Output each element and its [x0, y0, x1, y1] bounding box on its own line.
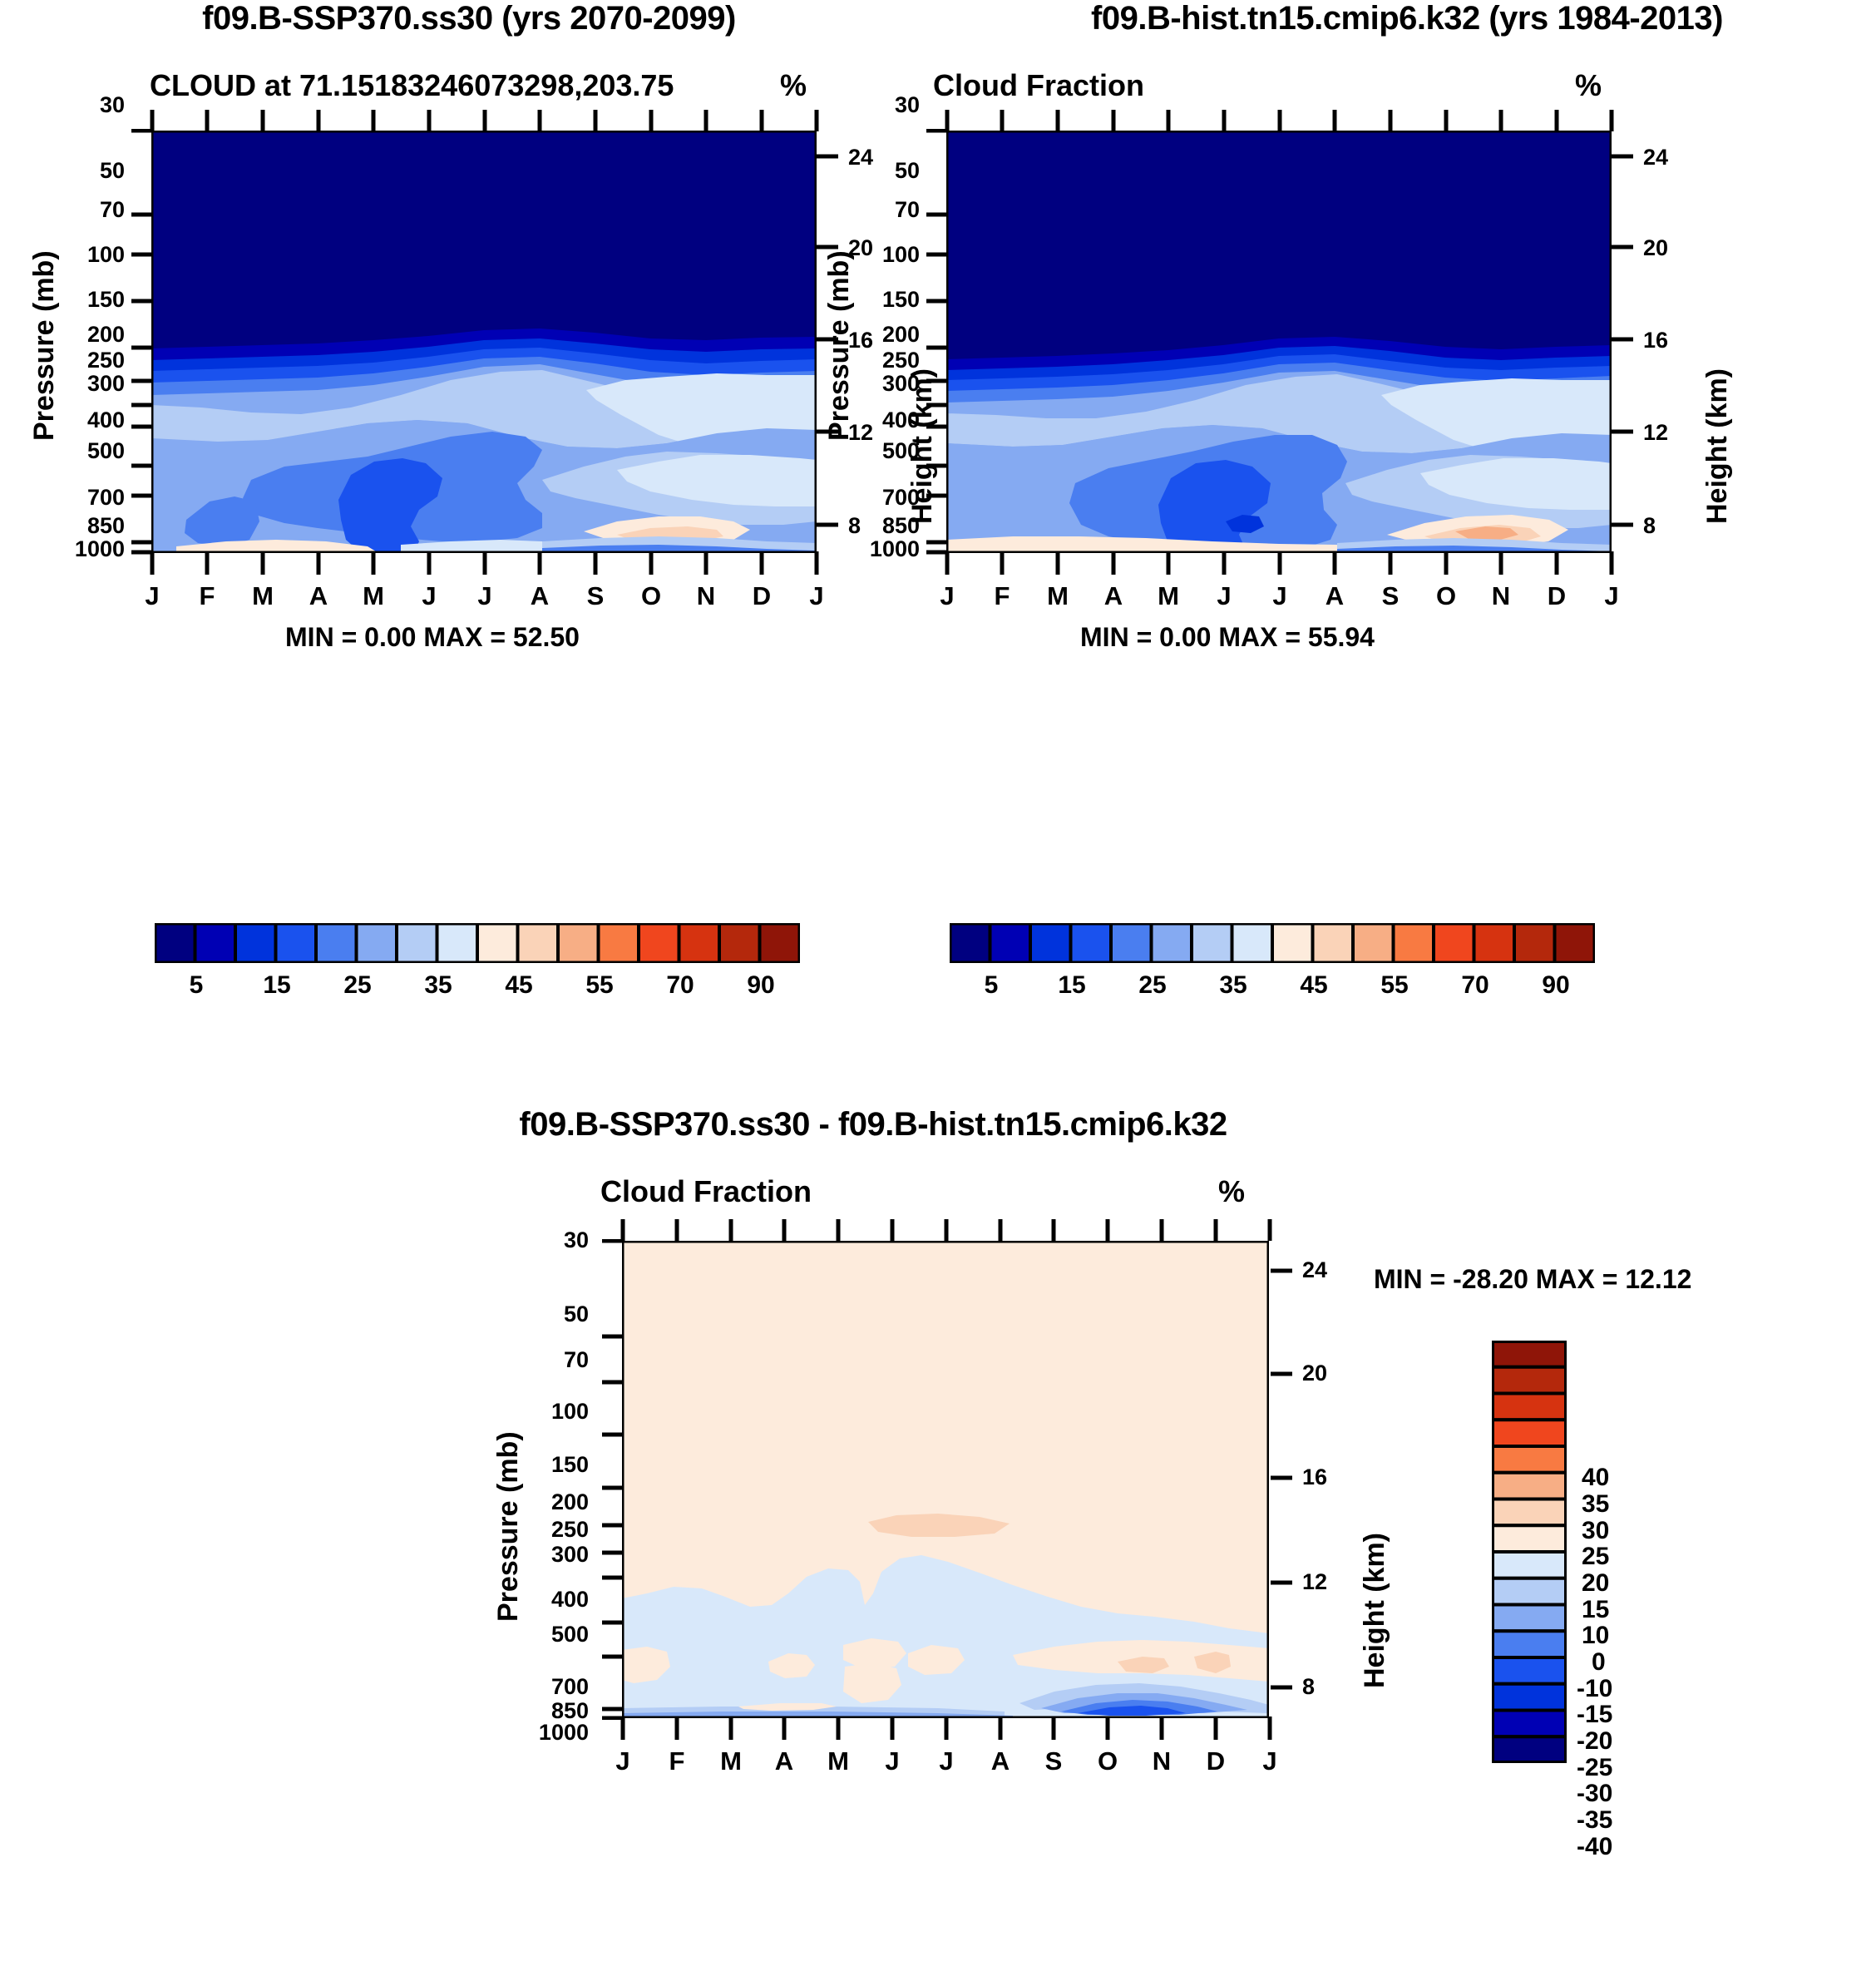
colorbar-segment	[1492, 1578, 1567, 1605]
colorbar-segment	[1474, 923, 1515, 963]
colorbar-tick-label: 10	[1582, 1622, 1609, 1650]
y-tick-label: 700	[497, 1674, 589, 1700]
colorbar-vertical-difference	[1492, 1341, 1567, 1763]
colorbar-segment	[950, 923, 990, 963]
colorbar-segment	[1492, 1525, 1567, 1552]
colorbar-segment	[437, 923, 478, 963]
colorbar-segment	[990, 923, 1031, 963]
x-tick-label: A	[294, 581, 343, 611]
x-tick-label: A	[759, 1746, 809, 1776]
y-axis-title-left: Pressure (mb)	[28, 250, 61, 441]
y-axis-left-ticks	[602, 1239, 622, 1720]
colorbar-tick-label: 70	[1442, 971, 1508, 1000]
x-tick-label: J	[127, 581, 177, 611]
x-tick-label: N	[1476, 581, 1526, 611]
colorbar-tick-label: -35	[1577, 1806, 1612, 1835]
x-tick-label: J	[922, 581, 972, 611]
contour-plot-top-left	[151, 131, 817, 553]
colorbar-tick-label: -30	[1577, 1780, 1612, 1808]
colorbar-segment	[1353, 923, 1394, 963]
y-axis-title-left: Pressure (mb)	[492, 1431, 525, 1622]
y-axis-title-right: Height (km)	[1701, 368, 1734, 524]
x-tick-label: J	[1199, 581, 1249, 611]
x-tick-label: J	[792, 581, 842, 611]
panel-bottom-diff: f09.B-SSP370.ss30 - f09.B-hist.tn15.cmip…	[0, 1106, 1876, 1961]
colorbar-segment	[195, 923, 236, 963]
y-axis-left-ticks	[926, 129, 946, 555]
colorbar-tick-label: 35	[405, 971, 471, 1000]
y-tick-label: 1000	[812, 536, 920, 562]
y-tick-label-height: 24	[1643, 145, 1668, 170]
x-tick-label: M	[706, 1746, 756, 1776]
x-tick-label: M	[1033, 581, 1083, 611]
y-tick-label: 50	[828, 158, 920, 184]
x-axis-bottom-ticks	[150, 551, 820, 575]
colorbar-segment	[1492, 1473, 1567, 1499]
x-tick-label: M	[348, 581, 398, 611]
y-tick-label-height: 24	[1302, 1257, 1327, 1283]
colorbar-segment	[276, 923, 317, 963]
colorbar-tick-label: 35	[1582, 1490, 1609, 1519]
colorbar-segment	[1232, 923, 1273, 963]
x-tick-label: D	[1191, 1746, 1241, 1776]
y-tick-label-height: 8	[1302, 1674, 1315, 1700]
panel-subtitle: Cloud Fraction	[600, 1174, 812, 1209]
y-tick-label-height: 16	[1302, 1465, 1327, 1490]
panel-top-left: f09.B-SSP370.ss30 (yrs 2070-2099) CLOUD …	[0, 0, 938, 1040]
panel-unit-label: %	[1218, 1174, 1245, 1209]
colorbar-segment	[679, 923, 720, 963]
y-axis-left-ticks	[131, 129, 151, 555]
colorbar-tick-label: 40	[1582, 1464, 1609, 1492]
colorbar-segment	[1111, 923, 1152, 963]
colorbar-segment	[1071, 923, 1112, 963]
y-tick-label-height: 20	[1643, 235, 1668, 261]
colorbar-segment	[1394, 923, 1434, 963]
x-axis-top-ticks	[150, 110, 820, 131]
colorbar-segment	[1434, 923, 1474, 963]
x-tick-label: J	[404, 581, 454, 611]
x-tick-label: J	[598, 1746, 648, 1776]
y-tick-label: 500	[497, 1622, 589, 1647]
colorbar-tick-label: 25	[1119, 971, 1186, 1000]
minmax-text: MIN = 0.00 MAX = 52.50	[0, 622, 865, 653]
colorbar-tick-label: 25	[1582, 1543, 1609, 1571]
y-tick-label: 850	[828, 513, 920, 539]
y-axis-title-left: Pressure (mb)	[823, 250, 856, 441]
colorbar-tick-label: 55	[566, 971, 633, 1000]
y-axis-right-ticks	[1271, 1239, 1292, 1720]
colorbar-segment	[1492, 1499, 1567, 1526]
x-tick-label: F	[977, 581, 1027, 611]
colorbar-segment	[1192, 923, 1232, 963]
y-axis-right-ticks	[1612, 129, 1633, 555]
x-tick-label: J	[1255, 581, 1305, 611]
colorbar-segment	[558, 923, 599, 963]
y-tick-label: 100	[497, 1399, 589, 1425]
colorbar-segment	[599, 923, 639, 963]
y-tick-label: 1000	[481, 1720, 589, 1746]
x-axis-bottom-ticks	[620, 1716, 1272, 1740]
colorbar-tick-label: 0	[1592, 1648, 1606, 1677]
x-tick-label: S	[1365, 581, 1415, 611]
colorbar-segment	[1313, 923, 1354, 963]
y-tick-label-height: 12	[1302, 1569, 1327, 1595]
panel-title: f09.B-SSP370.ss30 - f09.B-hist.tn15.cmip…	[0, 1106, 1746, 1144]
y-tick-label: 70	[497, 1347, 589, 1373]
x-tick-label: A	[975, 1746, 1025, 1776]
colorbar-tick-label: 45	[486, 971, 552, 1000]
colorbar-segment	[1492, 1605, 1567, 1632]
x-axis-top-ticks	[945, 110, 1615, 131]
y-axis-title-right: Height (km)	[1359, 1533, 1391, 1688]
colorbar-segment	[1555, 923, 1596, 963]
colorbar-tick-label: 90	[728, 971, 794, 1000]
colorbar-tick-label: -20	[1577, 1727, 1612, 1756]
y-tick-label: 500	[828, 438, 920, 464]
colorbar-segment	[1030, 923, 1071, 963]
colorbar-segment	[155, 923, 195, 963]
panel-top-right: f09.B-hist.tn15.cmip6.k32 (yrs 1984-2013…	[938, 0, 1876, 1040]
colorbar-tick-label: 20	[1582, 1569, 1609, 1598]
colorbar-tick-label: 45	[1281, 971, 1347, 1000]
colorbar-segment	[518, 923, 559, 963]
colorbar-segment	[1492, 1657, 1567, 1684]
x-tick-label: J	[867, 1746, 917, 1776]
y-tick-label-height: 8	[1643, 513, 1656, 539]
y-tick-label: 70	[33, 197, 125, 223]
panel-subtitle: Cloud Fraction	[933, 68, 1144, 103]
colorbar-tick-label: 25	[324, 971, 391, 1000]
colorbar-horizontal-top-left	[155, 923, 800, 963]
x-tick-label: A	[1310, 581, 1360, 611]
colorbar-segment	[1492, 1711, 1567, 1737]
colorbar-tick-label: -25	[1577, 1754, 1612, 1782]
colorbar-tick-label: -15	[1577, 1701, 1612, 1729]
x-tick-label: J	[1245, 1746, 1295, 1776]
panel-unit-label: %	[1575, 68, 1602, 103]
colorbar-tick-label: 15	[244, 971, 310, 1000]
x-tick-label: A	[1089, 581, 1138, 611]
colorbar-segment	[397, 923, 437, 963]
colorbar-tick-label: 70	[647, 971, 713, 1000]
colorbar-segment	[1492, 1341, 1567, 1367]
y-tick-label: 700	[33, 485, 125, 511]
colorbar-tick-label: 90	[1523, 971, 1589, 1000]
colorbar-segment	[639, 923, 679, 963]
colorbar-tick-label: 15	[1582, 1596, 1609, 1624]
colorbar-segment	[1492, 1394, 1567, 1420]
colorbar-segment	[1492, 1446, 1567, 1473]
x-tick-label: O	[1421, 581, 1471, 611]
colorbar-segment	[1152, 923, 1192, 963]
x-tick-label: M	[813, 1746, 863, 1776]
panel-unit-label: %	[780, 68, 807, 103]
y-tick-label-height: 20	[1302, 1361, 1327, 1386]
colorbar-segment	[1492, 1631, 1567, 1657]
colorbar-segment	[357, 923, 397, 963]
y-tick-label: 30	[33, 92, 125, 118]
colorbar-tick-label: 30	[1582, 1517, 1609, 1545]
colorbar-horizontal-top-right	[950, 923, 1595, 963]
y-tick-label: 50	[497, 1302, 589, 1327]
colorbar-tick-label: -10	[1577, 1675, 1612, 1703]
x-tick-label: J	[921, 1746, 971, 1776]
panel-title: f09.B-SSP370.ss30 (yrs 2070-2099)	[0, 0, 938, 37]
x-tick-label: J	[460, 581, 510, 611]
minmax-text: MIN = 0.00 MAX = 55.94	[795, 622, 1660, 653]
colorbar-segment	[1514, 923, 1555, 963]
colorbar-segment	[1492, 1367, 1567, 1394]
colorbar-segment	[1492, 1736, 1567, 1763]
panel-subtitle: CLOUD at 71.15183246073298,203.75	[150, 68, 674, 103]
colorbar-segment	[1272, 923, 1313, 963]
x-tick-label: N	[681, 581, 731, 611]
x-tick-label: D	[737, 581, 787, 611]
colorbar-segment	[760, 923, 801, 963]
colorbar-tick-label: 5	[958, 971, 1024, 1000]
x-tick-label: F	[182, 581, 232, 611]
x-axis-bottom-ticks	[945, 551, 1615, 575]
y-tick-label: 70	[828, 197, 920, 223]
colorbar-tick-label: 35	[1200, 971, 1266, 1000]
colorbar-tick-label: 15	[1039, 971, 1105, 1000]
colorbar-tick-label: 55	[1361, 971, 1428, 1000]
x-tick-label: F	[652, 1746, 702, 1776]
y-tick-label: 30	[497, 1227, 589, 1253]
y-tick-label-height: 16	[1643, 328, 1668, 353]
x-tick-label: M	[238, 581, 288, 611]
contour-plot-difference	[622, 1241, 1269, 1718]
colorbar-tick-label: -40	[1577, 1833, 1612, 1861]
y-tick-label-height: 12	[1643, 420, 1668, 446]
y-tick-label: 700	[828, 485, 920, 511]
y-tick-label: 1000	[17, 536, 125, 562]
y-tick-label: 30	[828, 92, 920, 118]
y-tick-label: 50	[33, 158, 125, 184]
x-tick-label: M	[1143, 581, 1193, 611]
colorbar-segment	[316, 923, 357, 963]
colorbar-tick-label: 5	[163, 971, 230, 1000]
colorbar-segment	[1492, 1420, 1567, 1446]
panel-title: f09.B-hist.tn15.cmip6.k32 (yrs 1984-2013…	[938, 0, 1876, 37]
x-tick-label: O	[626, 581, 676, 611]
colorbar-segment	[719, 923, 760, 963]
x-tick-label: S	[570, 581, 620, 611]
y-tick-label: 850	[33, 513, 125, 539]
colorbar-segment	[1492, 1552, 1567, 1578]
x-tick-label: D	[1532, 581, 1582, 611]
colorbar-segment	[1492, 1684, 1567, 1711]
x-tick-label: O	[1083, 1746, 1133, 1776]
colorbar-segment	[477, 923, 518, 963]
x-tick-label: J	[1587, 581, 1637, 611]
y-tick-label: 500	[33, 438, 125, 464]
x-tick-label: N	[1137, 1746, 1187, 1776]
contour-plot-top-right	[946, 131, 1612, 553]
x-axis-top-ticks	[620, 1219, 1272, 1241]
x-tick-label: S	[1029, 1746, 1079, 1776]
x-tick-label: A	[515, 581, 565, 611]
minmax-text: MIN = -28.20 MAX = 12.12	[1374, 1264, 1691, 1295]
colorbar-segment	[235, 923, 276, 963]
